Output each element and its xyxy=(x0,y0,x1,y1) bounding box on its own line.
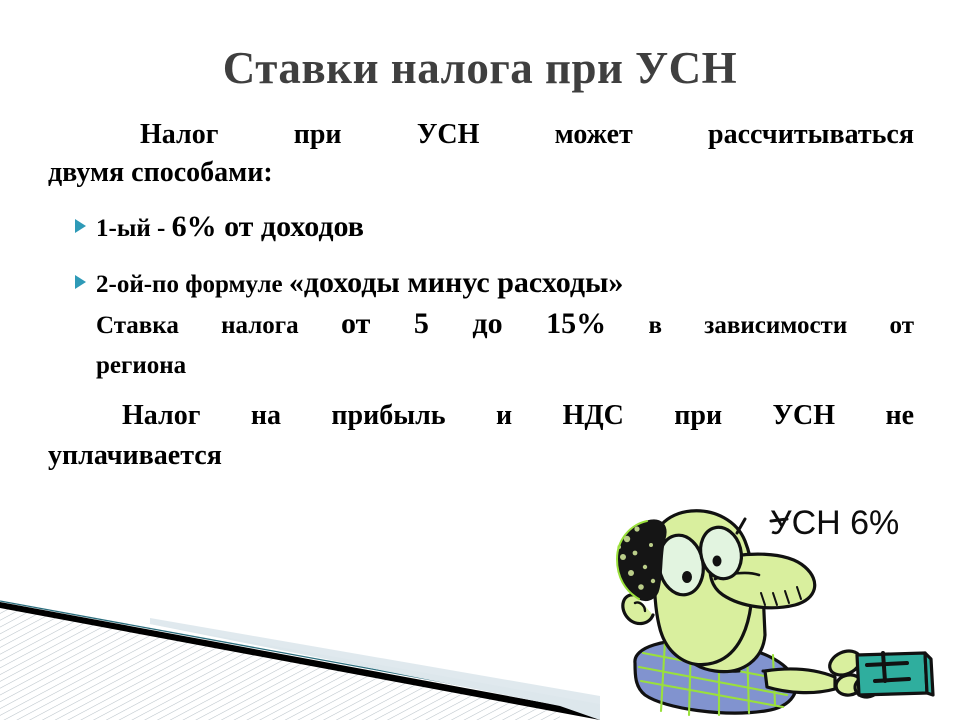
bullet-item-2-lead: 2-ой-по формуле xyxy=(96,271,289,298)
intro-line-1: Налог при УСН может рассчитываться xyxy=(48,116,914,154)
bullet-item-1-lead: 1-ый - xyxy=(96,215,172,242)
bullet-item-2-text: 2-ой-по формуле «доходы минус расходы» xyxy=(96,264,914,304)
diagonal-hatched-ribbon-decoration xyxy=(0,586,600,720)
bullet-item-1-text: 1-ый - 6% от доходов xyxy=(96,208,914,248)
bullet-item-1-emphasis: 6% от доходов xyxy=(172,210,364,243)
triangle-right-bullet-icon xyxy=(75,275,86,289)
tax-rate-line-2: региона xyxy=(48,346,914,386)
tax-rate-line-1: Ставка налога от 5 до 15% в зависимости … xyxy=(48,304,914,346)
tax-rate-line-1-pre: Ставка налога xyxy=(96,312,341,339)
closing-line-2: уплачивается xyxy=(48,436,914,476)
tax-rate-line-1-emphasis: от 5 до 15% xyxy=(341,307,606,340)
intro-paragraph: Налог при УСН может рассчитываться двумя… xyxy=(48,116,914,192)
cartoon-man-with-money-illustration xyxy=(595,495,935,720)
tax-rate-line-1-post: в зависимости от xyxy=(606,312,914,339)
bullet-item-2-emphasis: «доходы минус расходы» xyxy=(289,266,624,299)
slide-body: Налог при УСН может рассчитываться двумя… xyxy=(48,116,914,476)
page-title: Ставки налога при УСН xyxy=(0,42,960,94)
closing-line-1: Налог на прибыль и НДС при УСН не xyxy=(48,396,914,436)
intro-line-2: двумя способами: xyxy=(48,154,914,192)
bullet-item-2: 2-ой-по формуле «доходы минус расходы» xyxy=(48,264,914,304)
slide-canvas: Ставки налога при УСН Налог при УСН може… xyxy=(0,0,960,720)
bullet-item-1: 1-ый - 6% от доходов xyxy=(48,208,914,248)
closing-paragraph: Налог на прибыль и НДС при УСН не уплачи… xyxy=(48,386,914,476)
triangle-right-bullet-icon xyxy=(75,219,86,233)
